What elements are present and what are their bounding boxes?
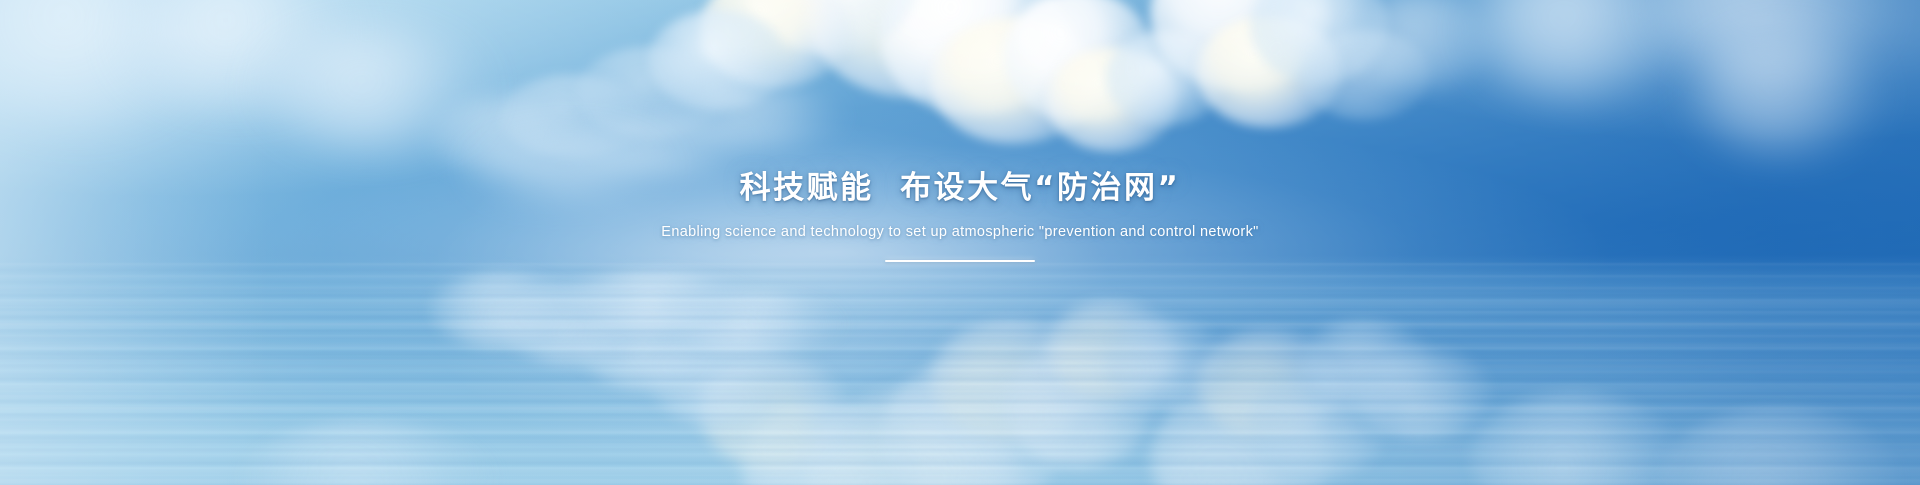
hero-title: 科技赋能 布设大气“防治网”	[0, 168, 1920, 208]
hero-banner: 科技赋能 布设大气“防治网” Enabling science and tech…	[0, 0, 1920, 485]
hero-divider-rule	[885, 260, 1035, 262]
hero-text-block: 科技赋能 布设大气“防治网” Enabling science and tech…	[0, 168, 1920, 262]
hero-subtitle: Enabling science and technology to set u…	[0, 222, 1920, 242]
water-ripples-foreground	[0, 300, 1920, 485]
